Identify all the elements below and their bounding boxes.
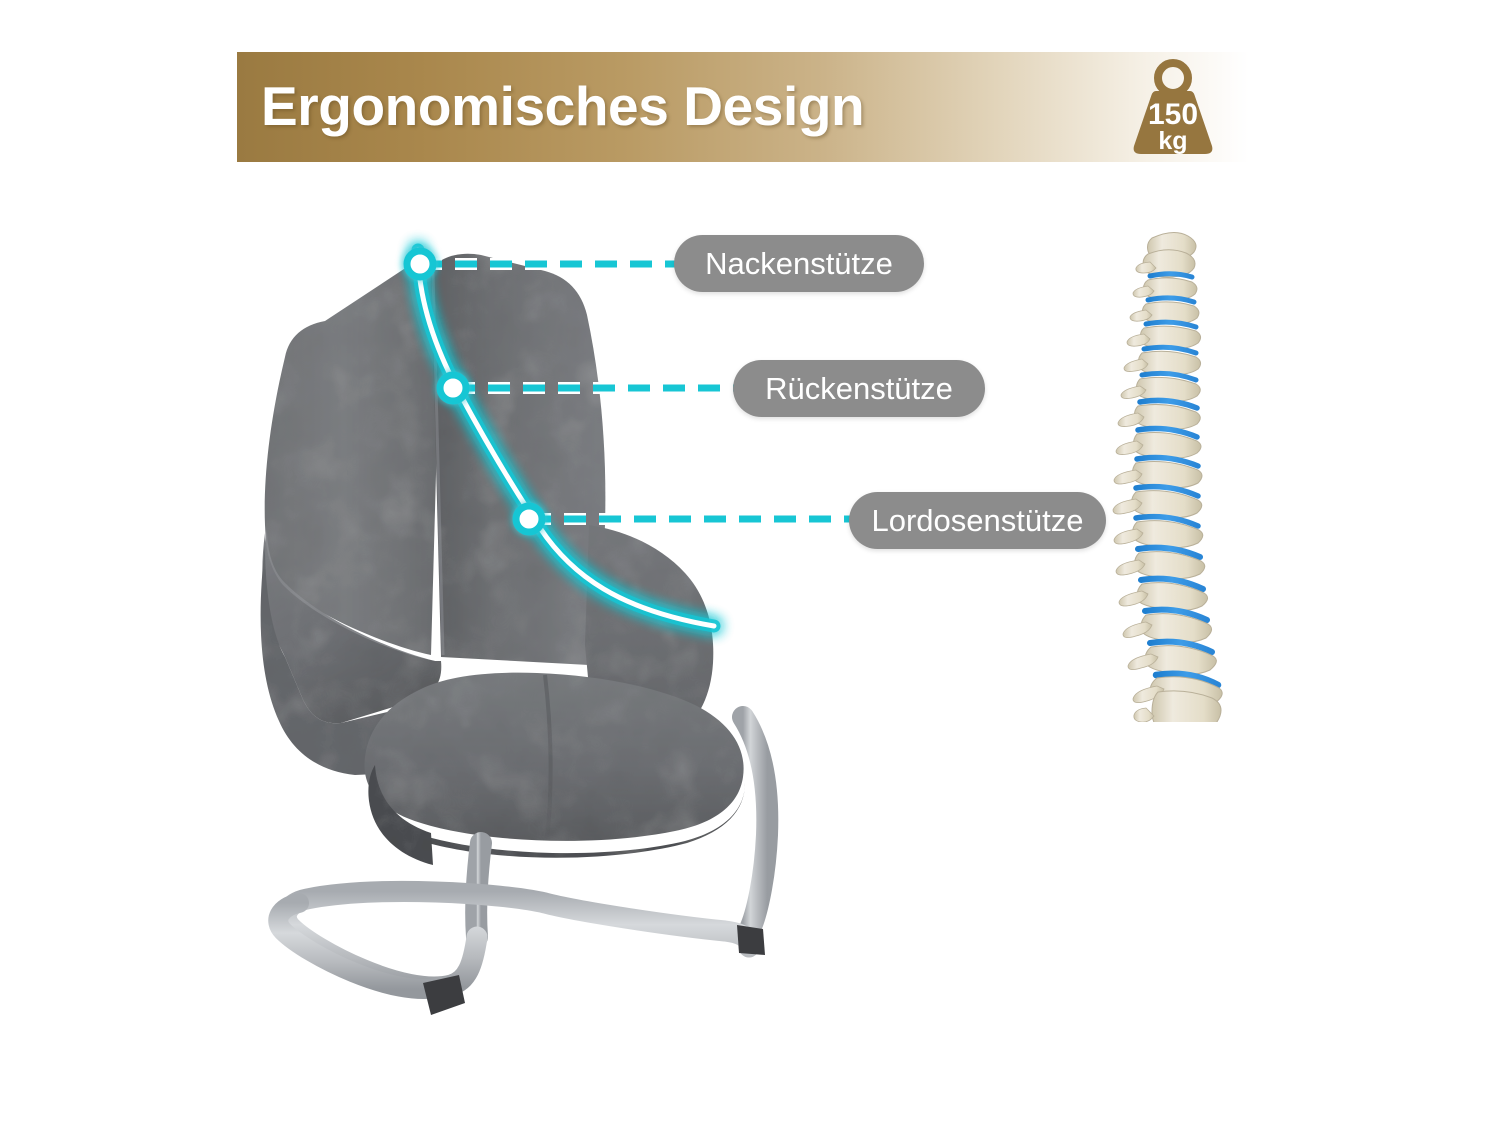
- weight-capacity-badge: 150 kg: [1126, 58, 1220, 158]
- spine-illustration: [1100, 222, 1250, 722]
- callout-label-neck-support: Nackenstütze: [674, 235, 924, 292]
- coccyx: [1134, 708, 1154, 722]
- frame-rear-leg: [743, 717, 767, 931]
- foot-rear-right: [737, 925, 765, 955]
- weight-kettlebell-icon: 150 kg: [1126, 58, 1220, 158]
- chair-illustration: [245, 225, 865, 1055]
- callout-label-lumbar-support: Lordosenstütze: [849, 492, 1106, 549]
- disc-c3-c4: [1148, 298, 1194, 302]
- chair-svg: [245, 225, 865, 1055]
- chair-upholstery-group: [261, 254, 745, 865]
- backrest-main-panel: [431, 254, 605, 665]
- callout-label-back-support: Rückenstütze: [733, 360, 985, 417]
- page-title: Ergonomisches Design: [261, 66, 1081, 146]
- vertebra-t2: [1118, 404, 1200, 429]
- weight-unit-text: kg: [1158, 127, 1187, 155]
- spine-cervical-region: [1124, 232, 1201, 380]
- spine-svg: [1100, 222, 1250, 722]
- infographic-canvas: Ergonomisches Design 150 kg: [0, 0, 1500, 1125]
- spine-thoracic-region: [1113, 377, 1216, 674]
